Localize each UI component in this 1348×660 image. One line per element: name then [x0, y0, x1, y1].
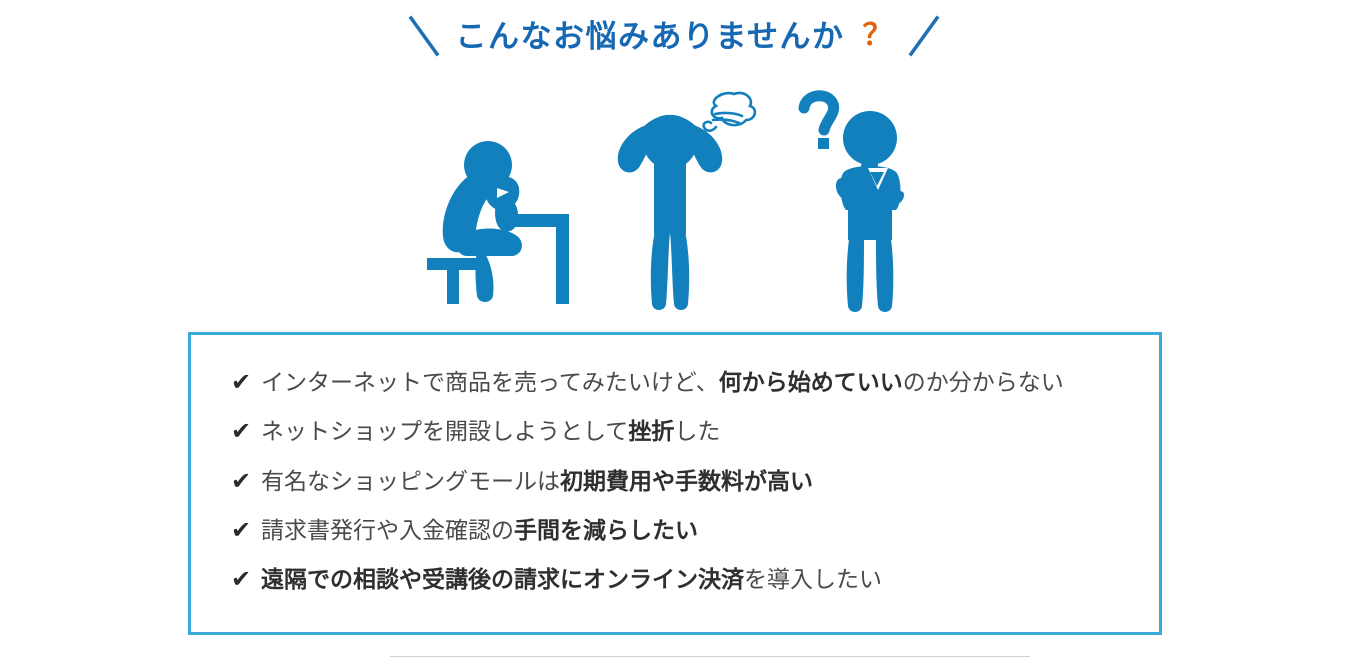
heading-inner: こんなお悩みありませんか ？: [407, 14, 940, 58]
page-title: こんなお悩みありませんか: [455, 21, 844, 52]
check-icon: ✔: [231, 566, 261, 594]
person-holding-head-frustrated-icon: [612, 82, 762, 319]
text-segment-emphasis: 遠隔での相談や受講後の請求にオンライン決済: [261, 566, 744, 592]
text-segment: インターネットで商品を売ってみたいけど、: [261, 369, 719, 395]
pain-points-list: ✔ インターネットで商品を売ってみたいけど、何から始めていいのか分からない ✔ …: [191, 335, 1159, 595]
list-item: ✔ 請求書発行や入金確認の手間を減らしたい: [231, 517, 1159, 545]
list-item: ✔ インターネットで商品を売ってみたいけど、何から始めていいのか分からない: [231, 369, 1159, 397]
check-icon: ✔: [231, 468, 261, 496]
bottom-divider: [390, 656, 1030, 657]
text-segment-emphasis: 挫折: [628, 418, 674, 444]
text-segment-emphasis: 何から始めていい: [719, 369, 903, 395]
text-segment: を導入したい: [744, 566, 882, 592]
backslash-icon: [407, 14, 441, 58]
list-item-text: 遠隔での相談や受講後の請求にオンライン決済を導入したい: [261, 566, 882, 593]
question-mark-dot: [818, 138, 829, 149]
list-item: ✔ 有名なショッピングモールは初期費用や手数料が高い: [231, 468, 1159, 496]
list-item-text: インターネットで商品を売ってみたいけど、何から始めていいのか分からない: [261, 369, 1064, 396]
text-segment: 請求書発行や入金確認の: [261, 517, 514, 543]
list-item: ✔ ネットショップを開設しようとして挫折した: [231, 418, 1159, 446]
text-segment-emphasis: 手間を減らしたい: [514, 517, 698, 543]
list-item: ✔ 遠隔での相談や受講後の請求にオンライン決済を導入したい: [231, 566, 1159, 594]
check-icon: ✔: [231, 517, 261, 545]
person-sitting-at-desk-head-in-hands-icon: [425, 140, 575, 310]
check-icon: ✔: [231, 418, 261, 446]
text-segment: のか分からない: [903, 369, 1064, 395]
text-segment-emphasis: 初期費用や手数料が高い: [560, 468, 813, 494]
question-mark-icon: [804, 96, 834, 130]
scribble-thought-icon: [704, 93, 755, 131]
illustration-group: [0, 82, 1348, 322]
check-icon: ✔: [231, 369, 261, 397]
page-heading: こんなお悩みありませんか ？: [0, 0, 1348, 72]
text-segment: した: [674, 418, 720, 444]
list-item-text: 請求書発行や入金確認の手間を減らしたい: [261, 517, 698, 544]
text-segment: 有名なショッピングモールは: [261, 468, 560, 494]
heading-question-mark: ？: [863, 21, 893, 51]
person-thinking-arms-crossed-icon: [792, 86, 932, 319]
list-item-text: 有名なショッピングモールは初期費用や手数料が高い: [261, 468, 813, 495]
text-segment: ネットショップを開設しようとして: [261, 418, 628, 444]
list-item-text: ネットショップを開設しようとして挫折した: [261, 418, 720, 445]
slash-icon: [907, 14, 941, 58]
pain-points-box: ✔ インターネットで商品を売ってみたいけど、何から始めていいのか分からない ✔ …: [188, 332, 1162, 635]
